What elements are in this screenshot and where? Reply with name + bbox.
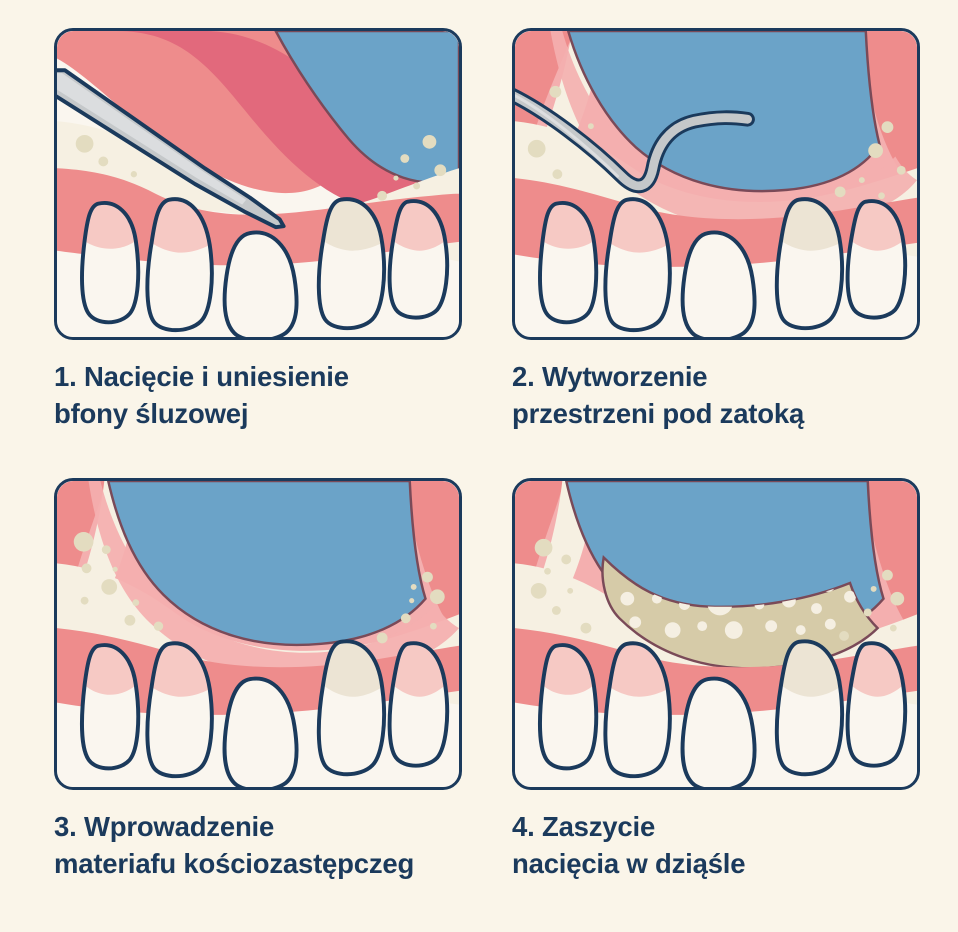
step-2: 2. Wytworzenie przestrzeni pod zatoką <box>512 28 958 478</box>
illustration-step-3 <box>57 481 459 787</box>
panel-step-1-incision <box>54 28 462 340</box>
panel-step-2-space-creation <box>512 28 920 340</box>
sinus-lift-infographic: 1. Nacięcie i uniesienie bfony śluzowej <box>0 0 958 932</box>
panel-step-3-graft-insertion <box>54 478 462 790</box>
illustration-step-1 <box>57 31 459 337</box>
caption-step-3: 3. Wprowadzenie materiafu kościozastępcz… <box>54 809 484 882</box>
step-4: 4. Zaszycie nacięcia w dziąśle <box>512 478 958 928</box>
steps-grid: 1. Nacięcie i uniesienie bfony śluzowej <box>0 0 958 932</box>
caption-step-2: 2. Wytworzenie przestrzeni pod zatoką <box>512 359 912 432</box>
caption-step-1: 1. Nacięcie i uniesienie bfony śluzowej <box>54 359 484 432</box>
step-3: 3. Wprowadzenie materiafu kościozastępcz… <box>54 478 512 928</box>
caption-step-4: 4. Zaszycie nacięcia w dziąśle <box>512 809 942 882</box>
illustration-step-4 <box>515 481 917 787</box>
step-1: 1. Nacięcie i uniesienie bfony śluzowej <box>54 28 512 478</box>
illustration-step-2 <box>515 31 917 337</box>
panel-step-4-suturing <box>512 478 920 790</box>
